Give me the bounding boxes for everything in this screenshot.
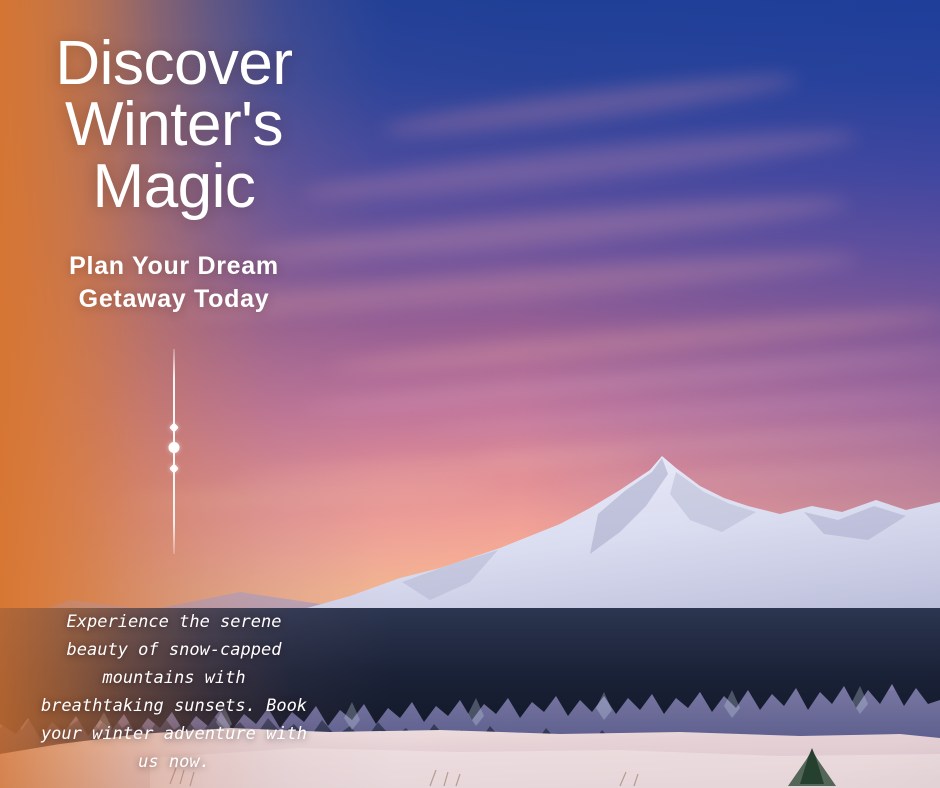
divider-dot-middle: [169, 442, 180, 453]
hero-banner: Discover Winter's Magic Plan Your Dream …: [0, 0, 940, 788]
vertical-line-with-dots-icon: [159, 349, 189, 554]
subheading: Plan Your Dream Getaway Today: [24, 250, 324, 315]
page-title: Discover Winter's Magic: [24, 33, 324, 217]
divider-dot-top: [169, 423, 179, 433]
hero-content: Discover Winter's Magic Plan Your Dream …: [0, 0, 348, 788]
divider-dot-bottom: [169, 464, 179, 474]
body-copy: Experience the serene beauty of snow-cap…: [40, 608, 308, 776]
